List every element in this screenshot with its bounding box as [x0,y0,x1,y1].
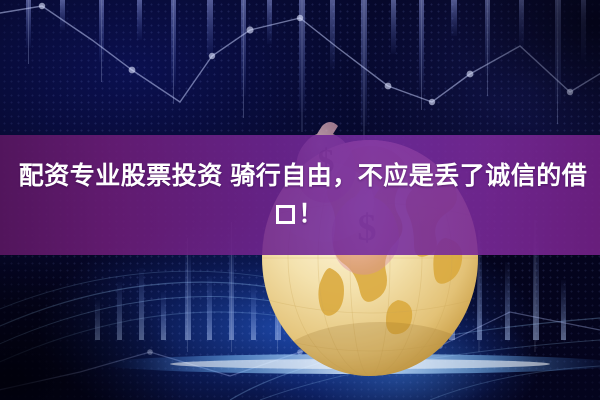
headline-line-2-suffix: ！ [298,200,324,228]
headline-banner: 配资专业股票投资 骑行自由，不应是丢了诚信的借 ！ [0,135,600,255]
headline-line-2: ！ [276,195,324,233]
headline-line-1: 配资专业股票投资 骑行自由，不应是丢了诚信的借 [0,157,600,195]
promo-banner-image: $ $ 配资专业股票投资 骑行自由，不应是丢了诚信的借 ！ [0,0,600,400]
missing-glyph-box [276,205,295,224]
